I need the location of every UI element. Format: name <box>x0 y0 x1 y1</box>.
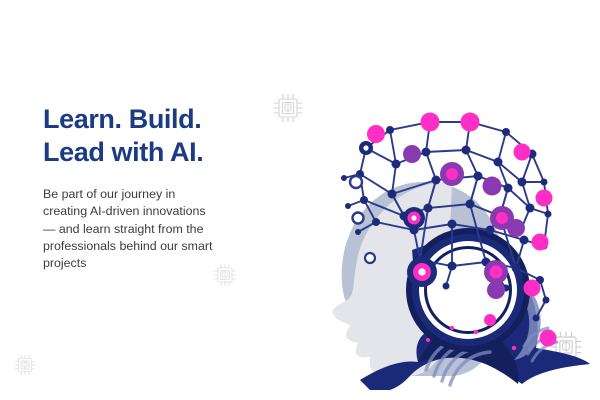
ai-head-illustration <box>300 90 600 390</box>
hero-text-block: Learn. Build. Lead with AI. Be part of o… <box>43 103 248 272</box>
ai-chip-icon <box>12 352 38 378</box>
page-title: Learn. Build. Lead with AI. <box>43 103 248 169</box>
ear-circle <box>406 228 530 352</box>
hero-banner: Learn. Build. Lead with AI. Be part of o… <box>0 0 600 400</box>
hero-description: Be part of our journey in creating AI-dr… <box>43 169 248 272</box>
ai-chip-icon <box>211 261 239 289</box>
